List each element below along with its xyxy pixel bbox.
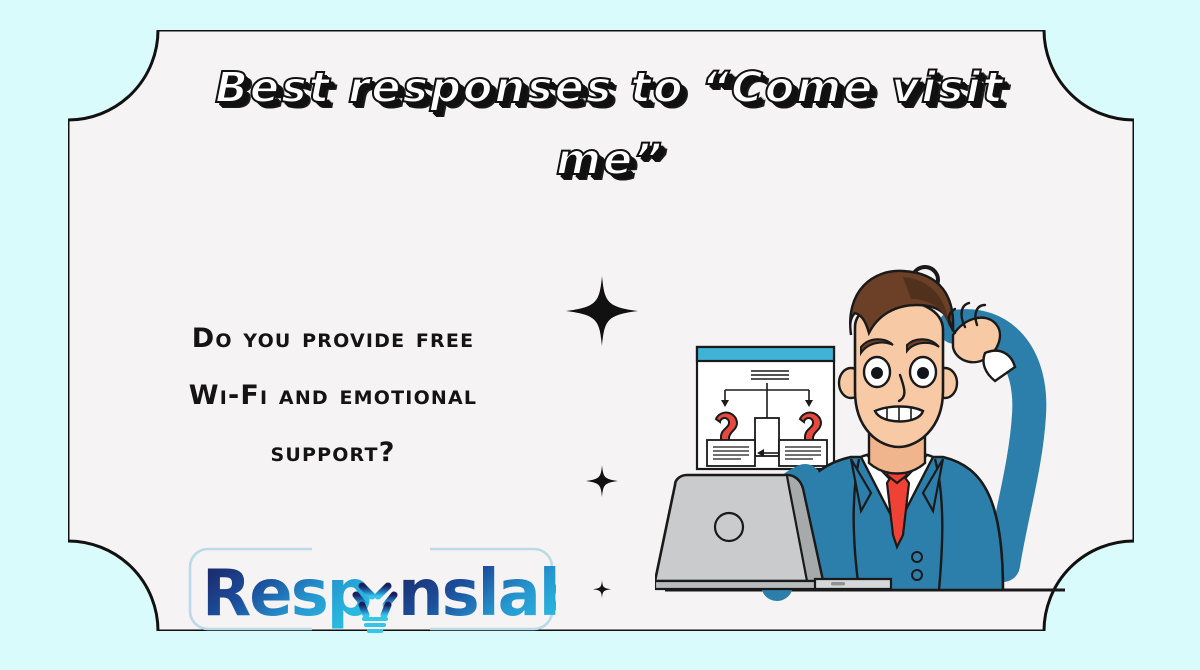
question-text-block: Do you provide free Wi-Fi and emotional …	[108, 310, 558, 481]
logo-text-after: nslab	[398, 557, 556, 631]
sparkle-divider	[562, 272, 642, 622]
browser-window-icon	[697, 347, 834, 469]
illustration-svg	[655, 235, 1075, 635]
sparkle-divider-svg	[562, 272, 642, 622]
brand-logo-svg: Resp nslab	[186, 545, 556, 633]
question-line-3: support?	[108, 424, 558, 481]
sparkle-icon-large	[566, 276, 638, 346]
sparkle-icon-medium	[586, 465, 618, 497]
businessman-head	[839, 271, 957, 474]
sparkle-icon-small	[593, 580, 611, 598]
question-line-2: Wi-Fi and emotional	[108, 367, 558, 424]
question-line-1: Do you provide free	[108, 310, 558, 367]
brand-logo[interactable]: Resp nslab	[186, 545, 556, 633]
logo-text-before: Resp	[202, 557, 371, 631]
poster-canvas: Best responses to “Come visit me” Do you…	[0, 0, 1200, 670]
illustration-confused-businessman	[655, 235, 1075, 635]
